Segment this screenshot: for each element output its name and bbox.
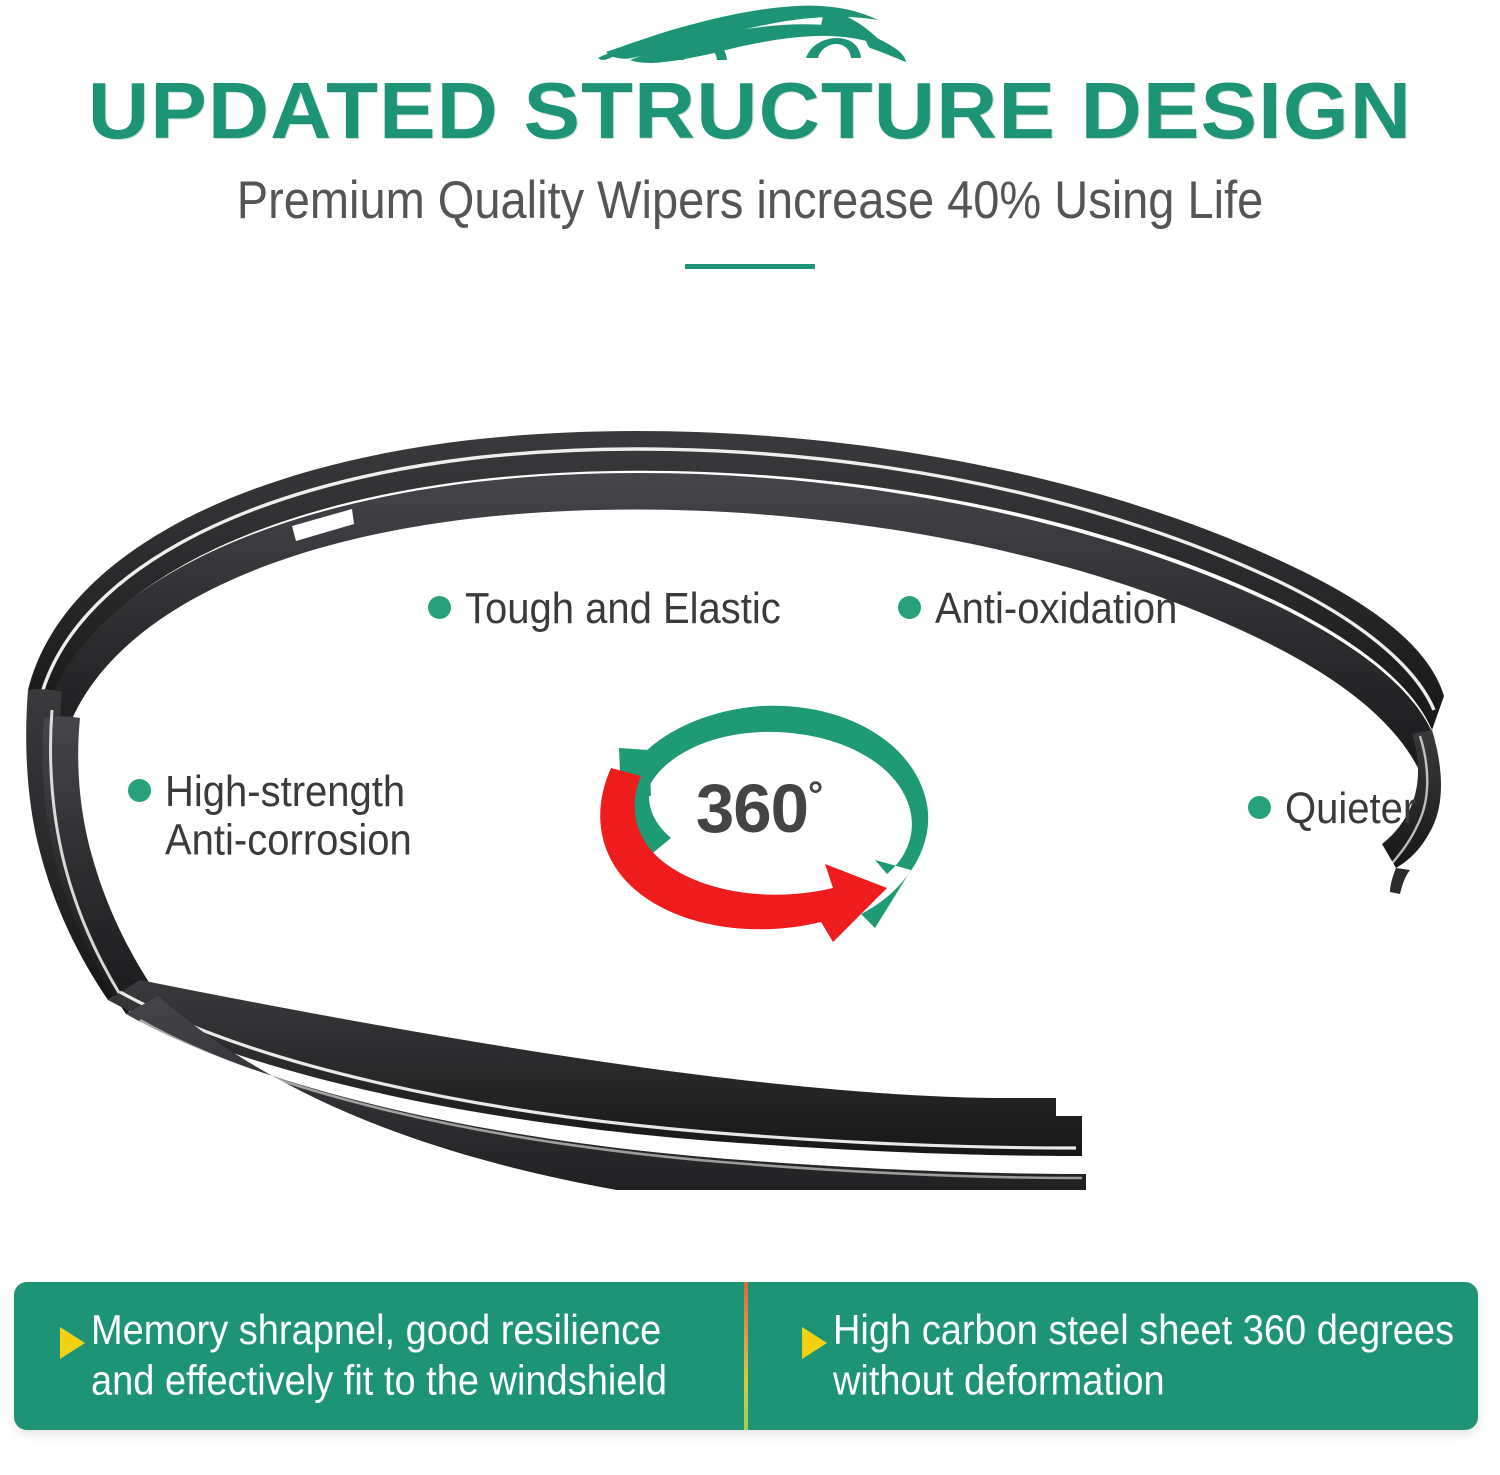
page-title: UPDATED STRUCTURE DESIGN bbox=[0, 68, 1500, 154]
feature-label: Anti-oxidation bbox=[935, 585, 1177, 634]
feature-label-line1: High-strength bbox=[165, 768, 405, 816]
triangle-arrow-icon bbox=[802, 1327, 827, 1359]
badge-360-degree: 360° bbox=[575, 692, 955, 942]
bullet-dot-icon bbox=[128, 779, 151, 802]
bullet-dot-icon bbox=[1248, 796, 1271, 819]
bullet-dot-icon bbox=[428, 596, 451, 619]
car-silhouette-icon bbox=[590, 0, 910, 66]
feature-label: Quieter bbox=[1285, 785, 1416, 834]
banner-panel-high-carbon-steel: High carbon steel sheet 360 degrees with… bbox=[748, 1282, 1478, 1430]
feature-label: Tough and Elastic bbox=[465, 585, 781, 634]
title-divider bbox=[685, 264, 815, 269]
feature-quieter: Quieter bbox=[1248, 785, 1416, 830]
banner-text: Memory shrapnel, good resilience and eff… bbox=[91, 1305, 667, 1406]
page-subtitle: Premium Quality Wipers increase 40% Usin… bbox=[0, 169, 1500, 232]
banner-text: High carbon steel sheet 360 degrees with… bbox=[833, 1305, 1454, 1406]
feature-tough-and-elastic: Tough and Elastic bbox=[428, 585, 781, 630]
bottom-banner: Memory shrapnel, good resilience and eff… bbox=[14, 1282, 1478, 1430]
feature-label-line2: Anti-corrosion bbox=[165, 817, 412, 866]
rotation-arrows-icon bbox=[575, 692, 955, 942]
banner-line2: and effectively fit to the windshield bbox=[91, 1356, 667, 1407]
banner-line1: High carbon steel sheet 360 degrees bbox=[833, 1308, 1454, 1354]
banner-line1: Memory shrapnel, good resilience bbox=[91, 1308, 661, 1354]
banner-line2: without deformation bbox=[833, 1356, 1454, 1407]
feature-high-strength-anti-corrosion: High-strength Anti-corrosion bbox=[128, 768, 412, 858]
feature-label: High-strength Anti-corrosion bbox=[165, 768, 412, 865]
triangle-arrow-icon bbox=[60, 1327, 85, 1359]
header: UPDATED STRUCTURE DESIGN Premium Quality… bbox=[0, 0, 1500, 269]
bullet-dot-icon bbox=[898, 596, 921, 619]
feature-anti-oxidation: Anti-oxidation bbox=[898, 585, 1177, 630]
banner-panel-memory-shrapnel: Memory shrapnel, good resilience and eff… bbox=[14, 1282, 744, 1430]
